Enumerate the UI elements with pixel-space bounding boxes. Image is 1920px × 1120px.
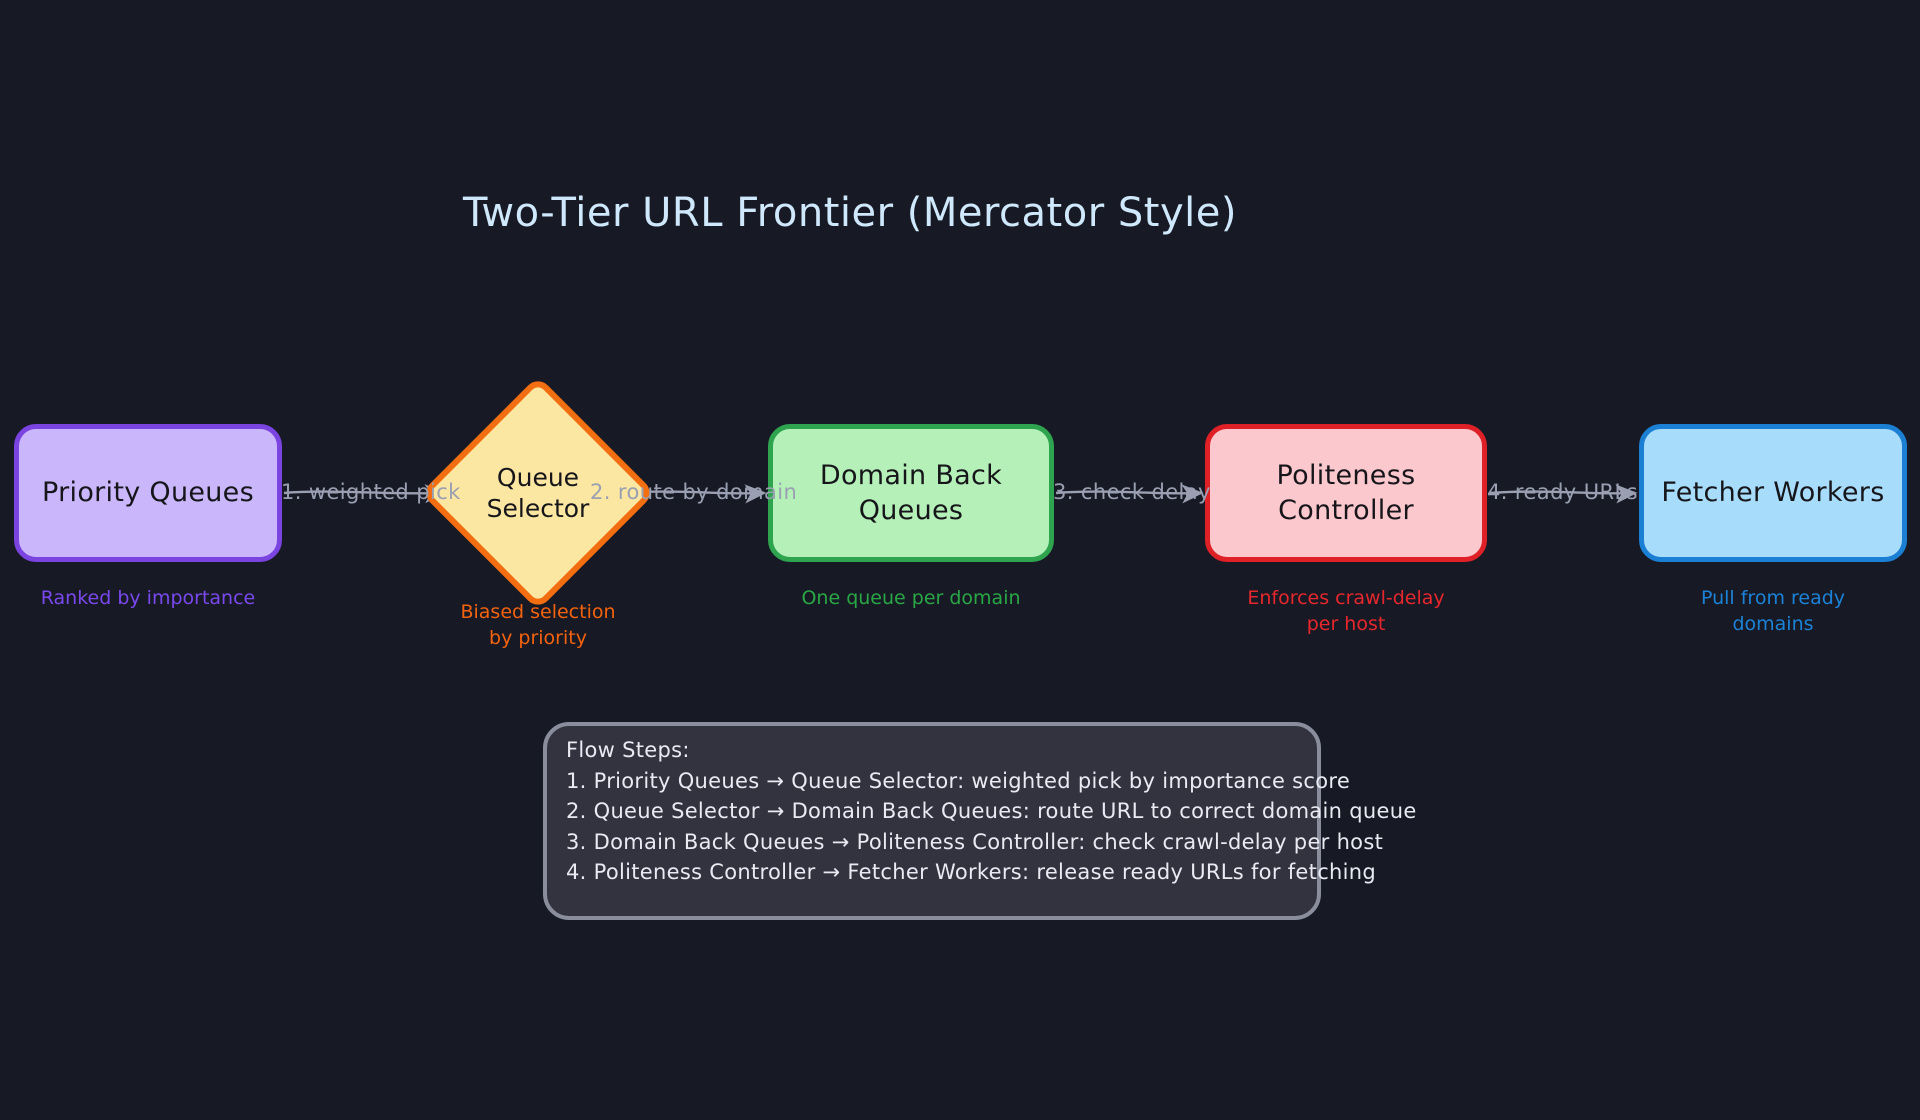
node-label-fetcher-workers: Fetcher Workers	[1651, 475, 1894, 510]
flow-steps-heading: Flow Steps:	[566, 738, 1466, 762]
caption-politeness-controller: Enforces crawl-delay per host	[1205, 586, 1487, 637]
flow-step-1: 1. Priority Queues → Queue Selector: wei…	[566, 766, 1466, 796]
caption-queue-selector: Biased selection by priority	[440, 600, 636, 651]
node-fetcher-workers[interactable]: Fetcher Workers	[1639, 424, 1907, 562]
edge-label-route-by-domain: 2. route by domain	[590, 480, 797, 504]
node-label-politeness-controller: Politeness Controller	[1267, 458, 1426, 528]
caption-priority-queues: Ranked by importance	[14, 586, 282, 612]
caption-domain-back-queues: One queue per domain	[768, 586, 1054, 612]
page-title: Two-Tier URL Frontier (Mercator Style)	[0, 190, 1700, 236]
node-politeness-controller[interactable]: Politeness Controller	[1205, 424, 1487, 562]
caption-fetcher-workers: Pull from ready domains	[1639, 586, 1907, 637]
node-domain-back-queues[interactable]: Domain Back Queues	[768, 424, 1054, 562]
flow-step-3: 3. Domain Back Queues → Politeness Contr…	[566, 827, 1466, 857]
node-label-domain-back-queues: Domain Back Queues	[810, 458, 1012, 528]
flow-step-2: 2. Queue Selector → Domain Back Queues: …	[566, 796, 1466, 826]
node-label-priority-queues: Priority Queues	[32, 475, 264, 510]
edge-label-ready-urls: 4. ready URLs	[1487, 480, 1638, 504]
node-priority-queues[interactable]: Priority Queues	[14, 424, 282, 562]
edge-label-weighted-pick: 1. weighted pick	[281, 480, 461, 504]
flow-step-4: 4. Politeness Controller → Fetcher Worke…	[566, 857, 1466, 887]
flow-steps-content: Flow Steps: 1. Priority Queues → Queue S…	[566, 738, 1466, 888]
edge-label-check-delay: 3. check delay	[1053, 480, 1211, 504]
